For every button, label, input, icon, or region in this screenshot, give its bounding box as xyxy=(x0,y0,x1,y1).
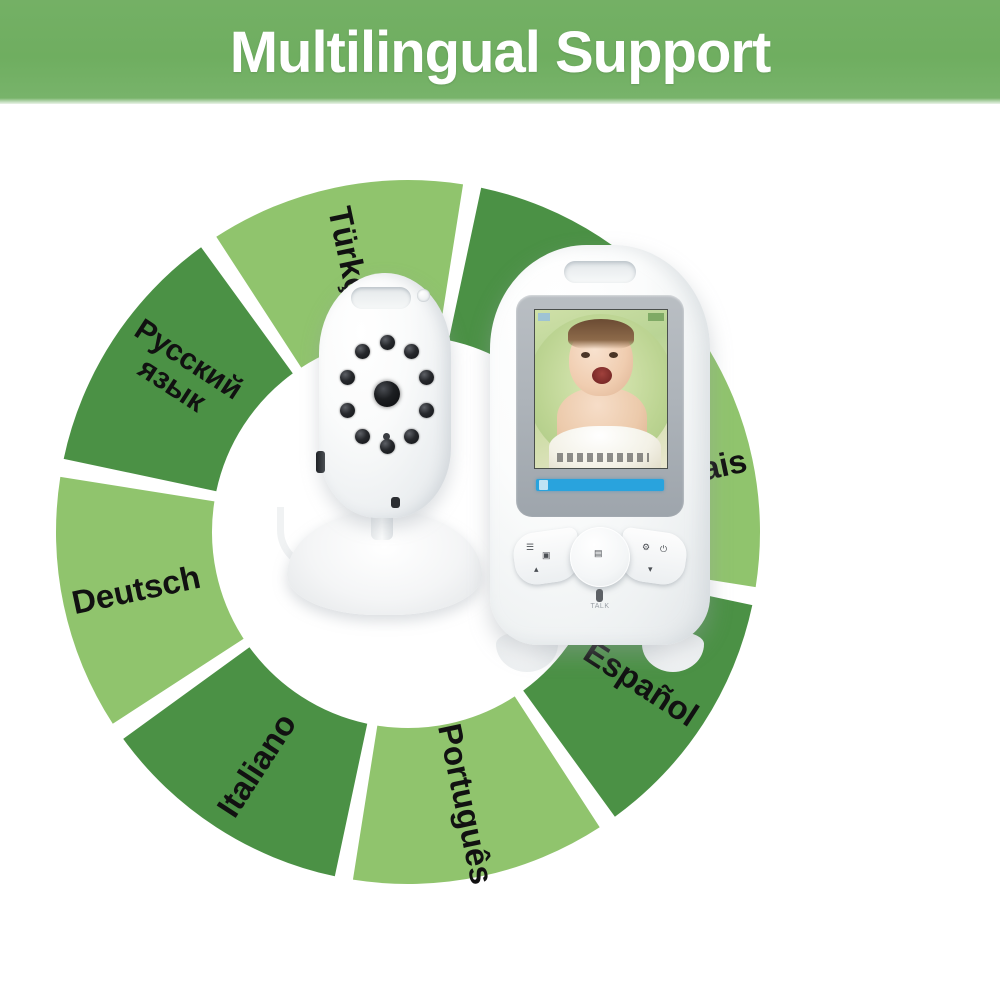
settings-button-icon[interactable]: ⚙ xyxy=(642,543,650,552)
video-feed-blanket xyxy=(549,426,661,469)
ir-led xyxy=(380,335,395,350)
camera-speaker-slot xyxy=(351,287,411,309)
camera-body xyxy=(319,273,451,518)
monitor-speaker-slot xyxy=(564,261,636,283)
camera-sensor-dot xyxy=(417,289,430,302)
camera-lens xyxy=(374,381,400,407)
ir-led xyxy=(355,429,370,444)
ok-button-glyph: ▤ xyxy=(594,549,603,558)
screen-osd-signal-icon xyxy=(538,313,550,321)
power-button-icon[interactable]: ⏻ xyxy=(660,545,667,554)
ir-led xyxy=(419,403,434,418)
ir-led xyxy=(380,439,395,454)
screen-osd-battery-icon xyxy=(648,313,664,321)
monitor-screen xyxy=(534,309,668,469)
ir-led xyxy=(355,344,370,359)
monitor-screen-bezel xyxy=(516,295,684,517)
camera-indicator-led xyxy=(391,497,400,508)
video-feed-baby-mouth xyxy=(592,367,612,384)
ir-led xyxy=(340,370,355,385)
camera-microphone xyxy=(383,433,390,440)
video-feed-baby-hair xyxy=(568,319,634,349)
monitor-status-bar xyxy=(536,479,664,491)
monitor-ok-button[interactable]: ▤ xyxy=(570,527,630,587)
monitor-microphone-icon xyxy=(596,589,603,602)
volume-button-icon[interactable]: ▴ xyxy=(534,565,539,574)
ir-led xyxy=(404,429,419,444)
menu-button-icon[interactable]: ☰ xyxy=(526,543,534,552)
ir-led xyxy=(340,403,355,418)
video-feed-baby-eye-right xyxy=(609,352,618,358)
monitor-body: ▤ ☰ ▣ ▴ ⚙ ⏻ ▾ TALK xyxy=(490,245,710,645)
page-header: Multilingual Support xyxy=(0,0,1000,104)
status-bar-indicator xyxy=(539,480,548,490)
page-title: Multilingual Support xyxy=(230,19,771,86)
monitor-keypad: ▤ ☰ ▣ ▴ ⚙ ⏻ ▾ xyxy=(514,527,686,593)
baby-monitor-handset: ▤ ☰ ▣ ▴ ⚙ ⏻ ▾ TALK xyxy=(490,245,710,660)
product-photo-group: ▤ ☰ ▣ ▴ ⚙ ⏻ ▾ TALK xyxy=(255,245,745,665)
talk-button-icon[interactable]: ▾ xyxy=(648,565,653,574)
monitor-microphone-label: TALK xyxy=(578,603,622,610)
ir-led xyxy=(404,344,419,359)
baby-camera-unit xyxy=(275,255,490,645)
ir-led xyxy=(419,370,434,385)
camera-button-icon[interactable]: ▣ xyxy=(542,551,551,560)
camera-side-port xyxy=(316,451,325,473)
video-feed-baby-eye-left xyxy=(581,352,590,358)
screen-osd-caption xyxy=(557,453,649,462)
